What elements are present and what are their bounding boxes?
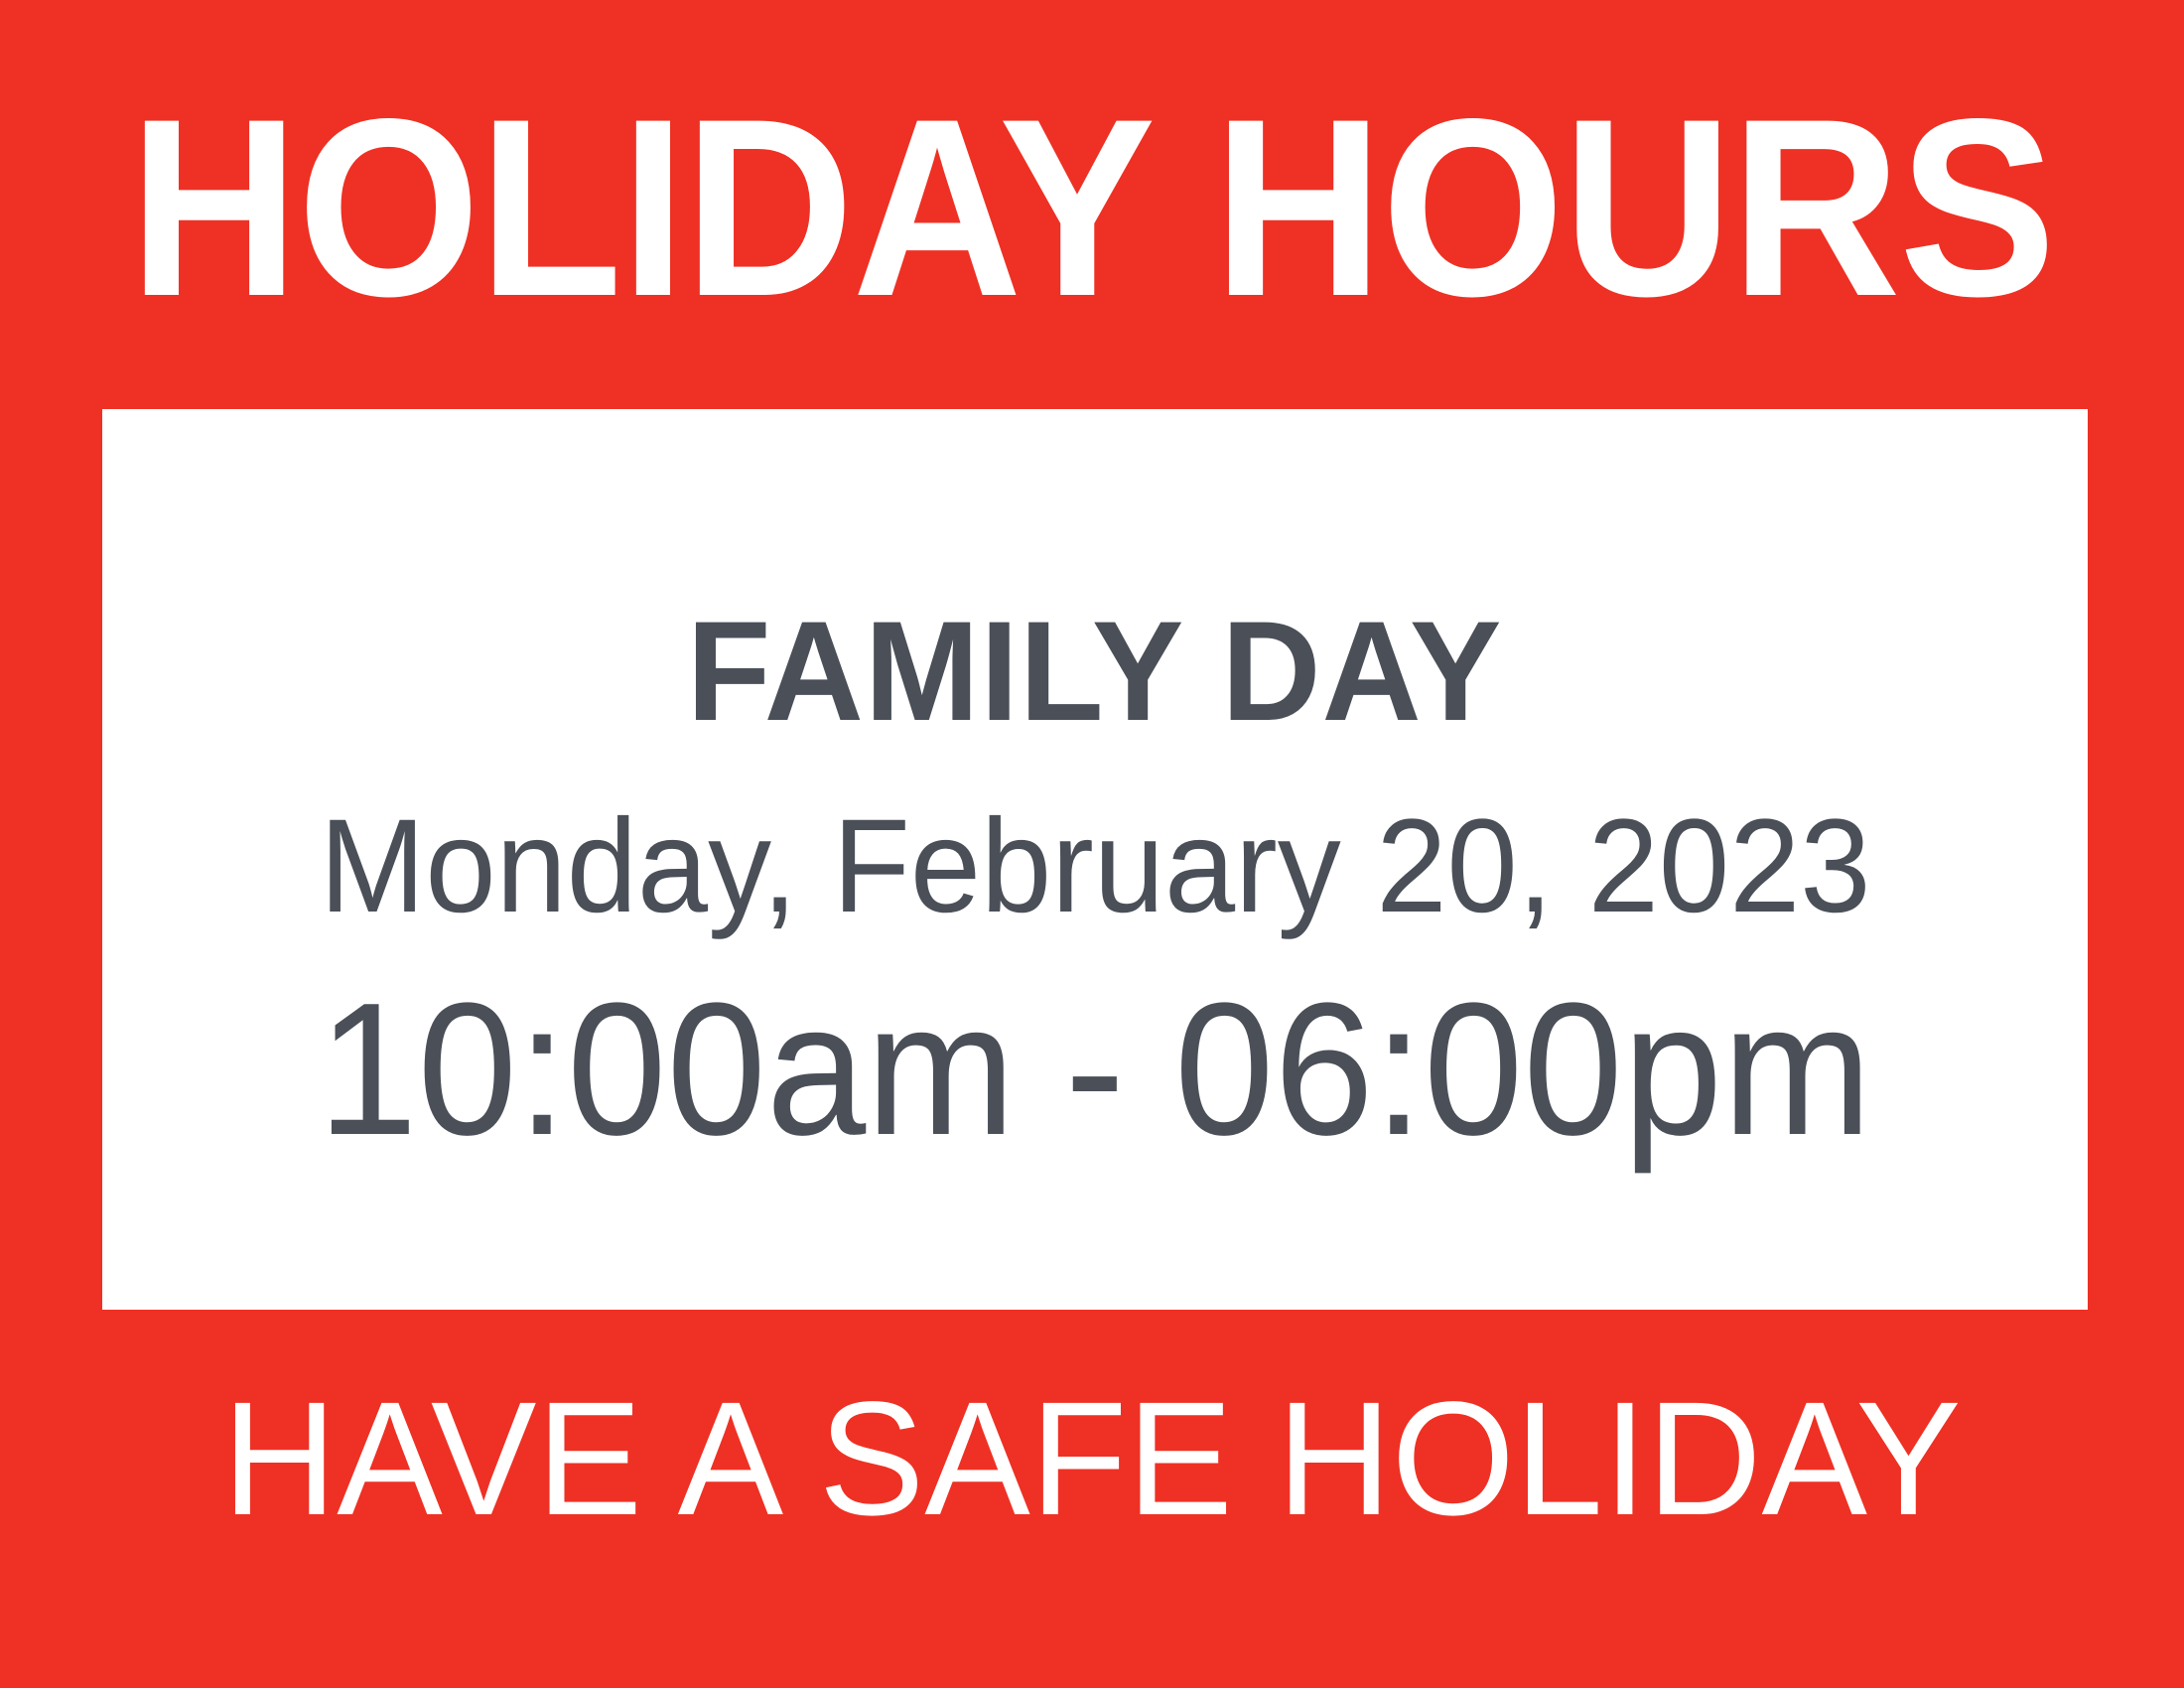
holiday-date: Monday, February 20, 2023 xyxy=(320,800,1871,933)
footer-message: HAVE A SAFE HOLIDAY xyxy=(222,1377,1962,1539)
holiday-info-card: FAMILY DAY Monday, February 20, 2023 10:… xyxy=(102,409,2088,1310)
holiday-name: FAMILY DAY xyxy=(687,601,1503,743)
holiday-hours: 10:00am - 06:00pm xyxy=(318,975,1871,1164)
page-title: HOLIDAY HOURS xyxy=(129,92,2054,326)
footer-band: HAVE A SAFE HOLIDAY xyxy=(0,1310,2184,1688)
holiday-hours-sign: HOLIDAY HOURS FAMILY DAY Monday, Februar… xyxy=(0,0,2184,1688)
headline-band: HOLIDAY HOURS xyxy=(0,0,2184,409)
